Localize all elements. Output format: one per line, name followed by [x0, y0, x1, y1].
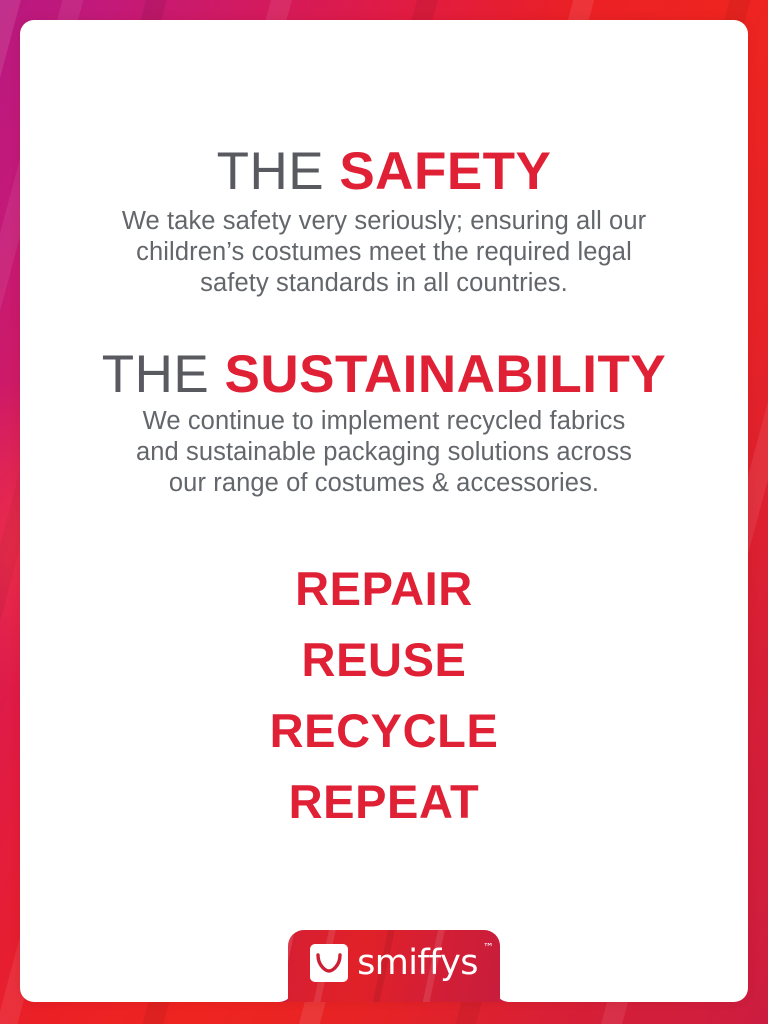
- safety-heading: THE SAFETY: [20, 145, 748, 198]
- sustainability-paragraph-line-3: our range of costumes & accessories.: [20, 468, 748, 499]
- sustainability-heading: THE SUSTAINABILITY: [20, 348, 748, 401]
- poster-background: THE SAFETY We take safety very seriously…: [0, 0, 768, 1024]
- smiffys-logo-tab[interactable]: smiffys ™: [288, 930, 500, 1002]
- slogan-recycle: RECYCLE: [20, 695, 748, 766]
- safety-paragraph-line-2: children’s costumes meet the required le…: [20, 237, 748, 268]
- logo-inner: smiffys ™: [288, 944, 500, 982]
- trademark-symbol: ™: [483, 942, 494, 953]
- smiffys-wordmark-text: smiffys: [357, 943, 478, 983]
- safety-paragraph-line-1: We take safety very seriously; ensuring …: [20, 206, 748, 237]
- sustainability-heading-highlight: SUSTAINABILITY: [224, 345, 666, 404]
- smiffys-wordmark: smiffys ™: [357, 944, 478, 982]
- slogan-repeat: REPEAT: [20, 766, 748, 837]
- sustainability-paragraph-line-1: We continue to implement recycled fabric…: [20, 406, 748, 437]
- white-content-card: THE SAFETY We take safety very seriously…: [20, 20, 748, 1002]
- smile-icon: [310, 944, 348, 982]
- slogan-repair: REPAIR: [20, 553, 748, 624]
- sustainability-paragraph-line-2: and sustainable packaging solutions acro…: [20, 437, 748, 468]
- safety-heading-prefix: THE: [217, 142, 325, 201]
- safety-paragraph: We take safety very seriously; ensuring …: [20, 206, 748, 299]
- slogan-reuse: REUSE: [20, 624, 748, 695]
- slogan-list: REPAIR REUSE RECYCLE REPEAT: [20, 553, 748, 837]
- safety-heading-highlight: SAFETY: [339, 142, 551, 201]
- sustainability-heading-prefix: THE: [102, 345, 210, 404]
- sustainability-paragraph: We continue to implement recycled fabric…: [20, 406, 748, 499]
- safety-paragraph-line-3: safety standards in all countries.: [20, 268, 748, 299]
